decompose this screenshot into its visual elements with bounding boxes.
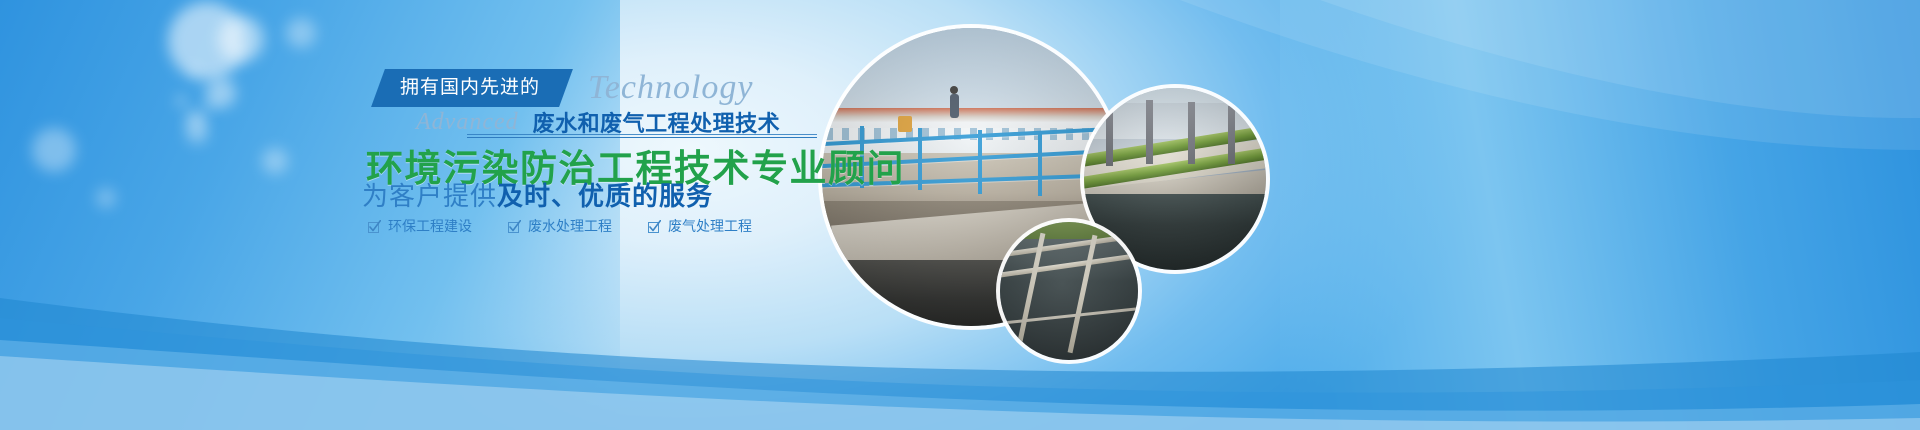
settling-tank-photo — [1000, 222, 1138, 360]
promo-banner: 拥有国内先进的 Technology Advanced 废水和废气工程处理技术 … — [0, 0, 1920, 430]
subheadline-emphasis: 及时、优质的服务 — [497, 181, 713, 211]
list-item-label: 废气处理工程 — [668, 216, 752, 236]
check-box-icon — [368, 220, 381, 233]
list-item-label: 废水处理工程 — [528, 216, 612, 236]
headline-block: 拥有国内先进的 Technology Advanced 废水和废气工程处理技术 … — [0, 0, 860, 430]
list-item: 废水处理工程 — [508, 216, 612, 236]
check-box-icon — [648, 220, 661, 233]
list-item-label: 环保工程建设 — [388, 216, 472, 236]
check-box-icon — [508, 220, 521, 233]
feature-list: 环保工程建设 废水处理工程 废气处理工程 — [368, 216, 752, 236]
subheadline: 为客户提供及时、优质的服务 — [362, 176, 713, 213]
tagline-row: 拥有国内先进的 Technology — [378, 68, 754, 108]
list-item: 废气处理工程 — [648, 216, 752, 236]
advanced-en-text: Advanced — [416, 109, 519, 136]
advanced-line: Advanced 废水和废气工程处理技术 — [416, 104, 780, 138]
technology-en-text: Technology — [588, 69, 754, 107]
advanced-tech-tag: 拥有国内先进的 — [371, 69, 573, 107]
list-item: 环保工程建设 — [368, 216, 472, 236]
subheadline-prefix: 为客户提供 — [362, 181, 497, 211]
advanced-tech-tag-label: 拥有国内先进的 — [400, 69, 540, 107]
